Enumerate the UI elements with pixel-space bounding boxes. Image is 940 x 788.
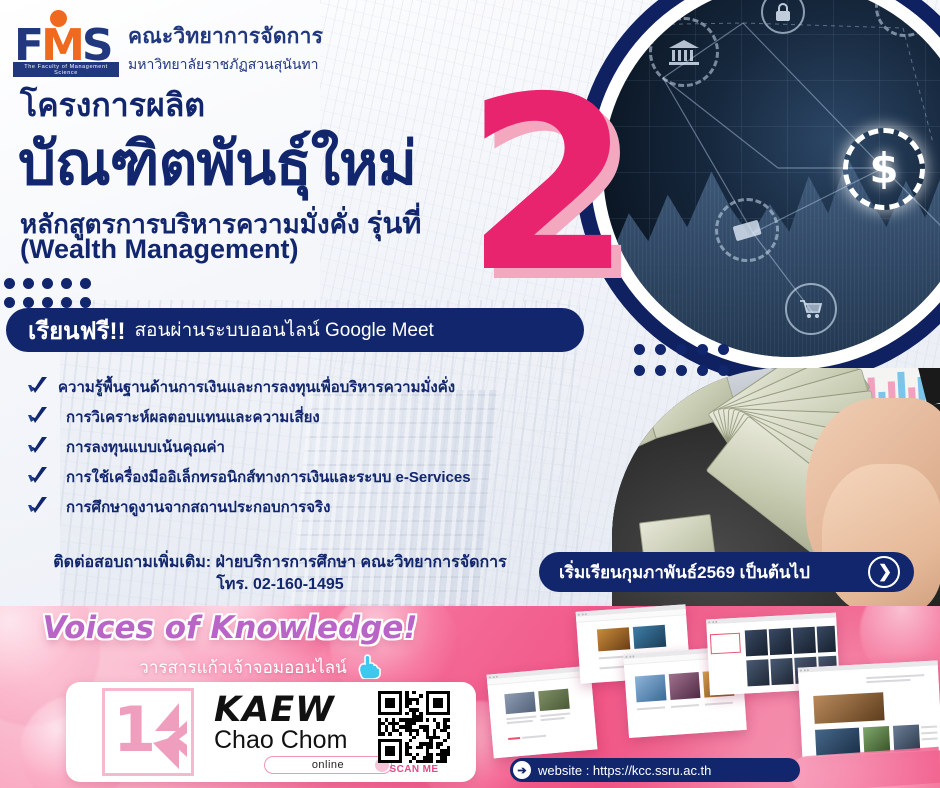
qr-caption: SCAN ME [378,764,450,775]
dot-grid-left [4,278,91,308]
list-item-label: การใช้เครื่องมืออิเล็กทรอนิกส์ทางการเงิน… [66,465,471,489]
kaew-chao-chom-card[interactable]: 1 KAEW Chao Chom online SCAN ME [66,682,476,782]
kaew-k-icon [145,701,197,771]
free-label: เรียนฟรี!! [28,311,125,350]
list-item: ความรู้พื้นฐานด้านการเงินและการลงทุนเพื่… [26,372,586,402]
list-item-label: การวิเคราะห์ผลตอบแทนและความเสี่ยง [66,405,320,429]
website-link[interactable]: ➔ website : https://kcc.ssru.ac.th [510,758,800,782]
shopping-cart-icon [785,283,837,335]
website-label: website : https://kcc.ssru.ac.th [538,763,711,778]
faculty-name-th: คณะวิทยาการจัดการ [128,20,323,53]
contact-info: ติดต่อสอบถามเพิ่มเติม: ฝ่ายบริการการศึกษ… [0,552,560,595]
heading-line-3: หลักสูตรการบริหารความมั่งคั่ง รุ่นที่ [20,200,421,246]
list-item: การใช้เครื่องมืออิเล็กทรอนิกส์ทางการเงิน… [26,462,586,492]
qr-code-modules [378,691,450,763]
check-icon [26,376,52,398]
footer-title: Voices of Knowledge! [0,610,460,646]
list-item: การลงทุนแบบเน้นคุณค่า [26,432,586,462]
check-icon [26,406,52,428]
credit-card-icon [715,198,779,262]
fms-logo: FMS The Faculty of Management Science คณ… [10,6,323,76]
heading-line-3-suffix: รุ่นที่ [367,208,422,240]
check-icon [26,436,52,458]
start-date-button[interactable]: เริ่มเรียนกุมภาพันธ์2569 เป็นต้นไป ❯ [539,552,914,592]
list-item: การศึกษาดูงานจากสถานประกอบการจริง [26,492,586,522]
curriculum-list: ความรู้พื้นฐานด้านการเงินและการลงทุนเพื่… [26,372,586,522]
list-item-label: การลงทุนแบบเน้นคุณค่า [66,435,225,459]
list-item-label: การศึกษาดูงานจากสถานประกอบการจริง [66,495,330,519]
check-icon [26,466,52,488]
kaew-brand-name-block: KAEW Chao Chom [214,690,347,755]
chevron-right-icon[interactable]: ❯ [868,556,900,588]
heading-line-2: บัณฑิตพันธุ์ใหม่ [18,116,416,211]
pointing-hand-icon [356,653,384,679]
kaew-logo-frame: 1 [102,688,194,776]
kaew-brand-subname: Chao Chom [214,726,347,755]
list-item: การวิเคราะห์ผลตอบแทนและความเสี่ยง [26,402,586,432]
batch-number: 2 [465,65,632,305]
check-icon [26,496,52,518]
bank-icon [649,17,719,87]
list-item-label: ความรู้พื้นฐานด้านการเงินและการลงทุนเพื่… [58,375,455,399]
top-section: $ $ [0,0,940,606]
kaew-brand-name: KAEW [214,690,347,730]
footer-subtitle: วารสารแก้วเจ้าจอมออนไลน์ [118,654,368,681]
university-name-th: มหาวิทยาลัยราชภัฏสวนสุนันทา [128,54,323,76]
fms-logo-tagline: The Faculty of Management Science [13,62,119,77]
free-detail: สอนผ่านระบบออนไลน์ Google Meet [134,315,433,345]
dollar-coin-icon: $ [843,128,925,210]
start-date-label: เริ่มเรียนกุมภาพันธ์2569 เป็นต้นไป [559,559,810,586]
contact-line-1: ติดต่อสอบถามเพิ่มเติม: ฝ่ายบริการการศึกษ… [0,552,560,574]
online-badge-label: online [312,759,344,771]
free-course-banner: เรียนฟรี!! สอนผ่านระบบออนไลน์ Google Mee… [6,308,584,352]
heading-line-3-text: หลักสูตรการบริหารความมั่งคั่ง [20,209,360,239]
arrow-right-circle-icon[interactable]: ➔ [513,761,531,779]
online-badge[interactable]: online [264,756,392,774]
screenshot-window [798,660,940,757]
contact-line-2: โทร. 02-160-1495 [0,574,560,596]
hero-finance-network-photo: $ $ [603,0,940,357]
qr-code-icon[interactable] [378,691,450,763]
poster-root: $ $ [0,0,940,788]
fms-logo-mark: FMS The Faculty of Management Science [10,6,122,74]
faculty-name-block: คณะวิทยาการจัดการ มหาวิทยาลัยราชภัฏสวนสุ… [128,6,323,76]
